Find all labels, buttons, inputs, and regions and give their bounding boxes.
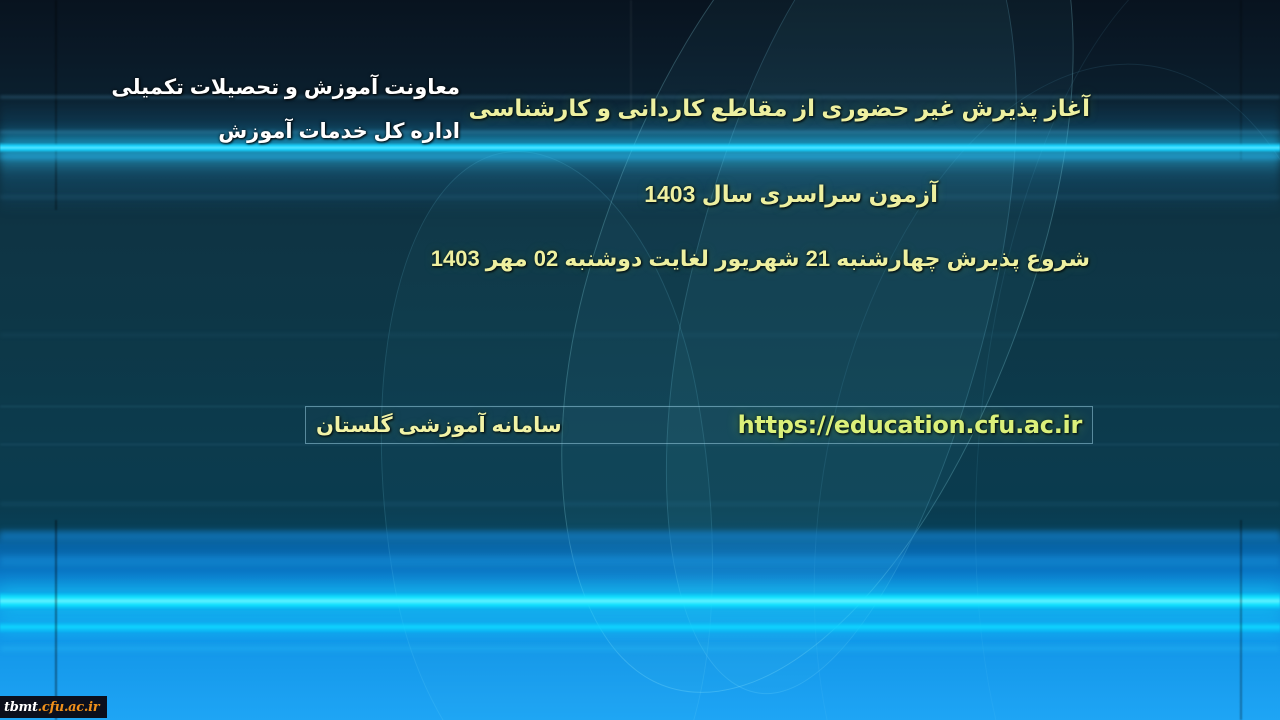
source-watermark: tbmt.cfu.ac.ir: [0, 696, 107, 718]
headline-line-1: آغاز پذیرش غیر حضوری از مقاطع کاردانی و …: [450, 86, 1090, 130]
portal-system-label: سامانه آموزشی گلستان: [316, 413, 562, 438]
portal-url-link[interactable]: https://education.cfu.ac.ir: [738, 411, 1082, 439]
department-header: معاونت آموزش و تحصیلات تکمیلی اداره کل خ…: [111, 66, 460, 154]
portal-info-box: سامانه آموزشی گلستان https://education.c…: [305, 406, 1093, 444]
watermark-site-name: tbmt: [4, 700, 38, 715]
department-name-line-1: معاونت آموزش و تحصیلات تکمیلی: [111, 66, 460, 110]
registration-date-range: شروع پذیرش چهارشنبه 21 شهریور لغایت دوشن…: [170, 246, 1090, 272]
department-name-line-2: اداره کل خدمات آموزش: [111, 110, 460, 154]
headline-line-2: آزمون سراسری سال 1403: [450, 172, 1090, 216]
watermark-site-domain: .cfu.ac.ir: [38, 700, 100, 715]
announcement-slide: معاونت آموزش و تحصیلات تکمیلی اداره کل خ…: [0, 0, 1280, 720]
announcement-headline: آغاز پذیرش غیر حضوری از مقاطع کاردانی و …: [450, 86, 1090, 216]
